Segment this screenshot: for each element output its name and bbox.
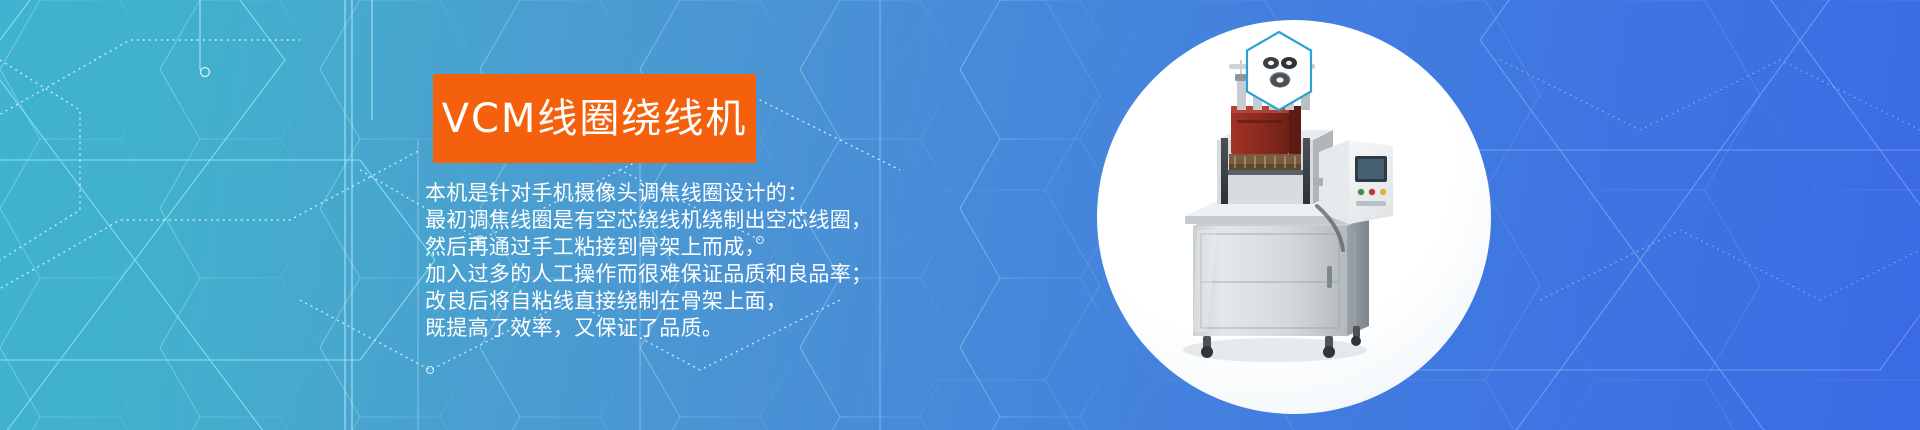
product-banner: VCM线圈绕线机 本机是针对手机摄像头调焦线圈设计的： 最初调焦线圈是有空芯绕线…	[0, 0, 1920, 430]
description-line: 改良后将自粘线直接绕制在骨架上面，	[425, 288, 985, 315]
description-line: 然后再通过手工粘接到骨架上而成，	[425, 234, 985, 261]
product-title-box: VCM线圈绕线机	[433, 74, 756, 163]
description-line: 本机是针对手机摄像头调焦线圈设计的：	[425, 180, 985, 207]
page-title: VCM线圈绕线机	[442, 99, 748, 139]
description-line: 加入过多的人工操作而很难保证品质和良品率；	[425, 261, 985, 288]
coil-samples-hexagon-badge	[1243, 30, 1315, 112]
description-line: 最初调焦线圈是有空芯绕线机绕制出空芯线圈，	[425, 207, 985, 234]
product-description: 本机是针对手机摄像头调焦线圈设计的： 最初调焦线圈是有空芯绕线机绕制出空芯线圈，…	[425, 180, 985, 342]
description-line: 既提高了效率，又保证了品质。	[425, 315, 985, 342]
